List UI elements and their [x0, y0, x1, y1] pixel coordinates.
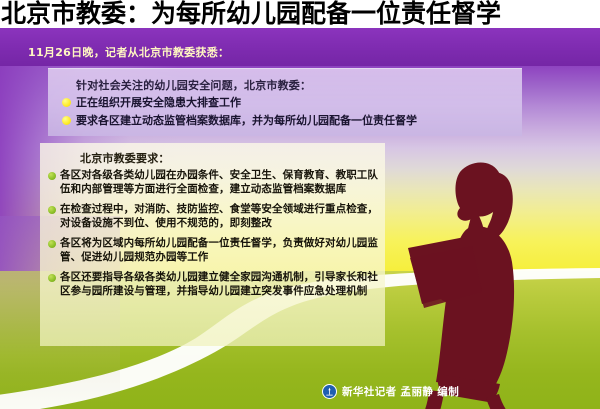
list-item-label: 各区将为区域内每所幼儿园配备一位责任督学，负责做好对幼儿园监管、促进幼儿园规范办… — [60, 237, 381, 264]
main-info-panel: 北京市教委要求： 各区对各级各类幼儿园在办园条件、安全卫生、保育教育、教职工队伍… — [40, 143, 385, 346]
main-panel-lead: 北京市教委要求： — [80, 150, 170, 166]
list-item-label: 在检查过程中，对消防、技防监控、食堂等安全领域进行重点检查，对设备设施不到位、使… — [60, 203, 381, 230]
list-item-label: 要求各区建立动态监管档案数据库，并为每所幼儿园配备一位责任督学 — [76, 114, 417, 128]
bullet-dot-icon — [62, 116, 71, 125]
list-item: 正在组织开展安全隐患大排查工作 — [62, 96, 516, 110]
top-panel-bullets: 正在组织开展安全隐患大排查工作 要求各区建立动态监管档案数据库，并为每所幼儿园配… — [62, 96, 516, 132]
list-item: 各区对各级各类幼儿园在办园条件、安全卫生、保育教育、教职工队伍和内部管理等方面进… — [48, 169, 381, 196]
list-item-label: 各区还要指导各级各类幼儿园建立健全家园沟通机制，引导家长和社区参与园所建设与管理… — [60, 271, 381, 298]
main-panel-bullets: 各区对各级各类幼儿园在办园条件、安全卫生、保育教育、教职工队伍和内部管理等方面进… — [48, 169, 381, 305]
page-title: 北京市教委：为每所幼儿园配备一位责任督学 — [0, 0, 501, 28]
credit-line: 新华社记者 孟丽静 编制 — [322, 383, 459, 399]
list-item: 在检查过程中，对消防、技防监控、食堂等安全领域进行重点检查，对设备设施不到位、使… — [48, 203, 381, 230]
list-item: 要求各区建立动态监管档案数据库，并为每所幼儿园配备一位责任督学 — [62, 114, 516, 128]
bullet-dot-icon — [48, 274, 56, 282]
bullet-dot-icon — [62, 98, 71, 107]
top-info-panel: 针对社会关注的幼儿园安全问题，北京市教委： 正在组织开展安全隐患大排查工作 要求… — [48, 68, 522, 136]
title-bar: 北京市教委：为每所幼儿园配备一位责任督学 — [0, 0, 600, 28]
list-item-label: 正在组织开展安全隐患大排查工作 — [76, 96, 241, 110]
top-panel-lead: 针对社会关注的幼儿园安全问题，北京市教委： — [76, 77, 311, 93]
bullet-dot-icon — [48, 240, 56, 248]
bullet-dot-icon — [48, 206, 56, 214]
infographic-root: 北京市教委：为每所幼儿园配备一位责任督学 11月26日晚，记者从北京市教委获悉： — [0, 0, 600, 409]
list-item: 各区还要指导各级各类幼儿园建立健全家园沟通机制，引导家长和社区参与园所建设与管理… — [48, 271, 381, 298]
bullet-dot-icon — [48, 172, 56, 180]
credit-text: 新华社记者 孟丽静 编制 — [342, 384, 459, 399]
header-subtitle: 11月26日晚，记者从北京市教委获悉： — [28, 44, 229, 60]
xinhua-logo-icon — [322, 384, 337, 399]
list-item-label: 各区对各级各类幼儿园在办园条件、安全卫生、保育教育、教职工队伍和内部管理等方面进… — [60, 169, 381, 196]
list-item: 各区将为区域内每所幼儿园配备一位责任督学，负责做好对幼儿园监管、促进幼儿园规范办… — [48, 237, 381, 264]
girl-with-books-silhouette — [378, 142, 588, 409]
